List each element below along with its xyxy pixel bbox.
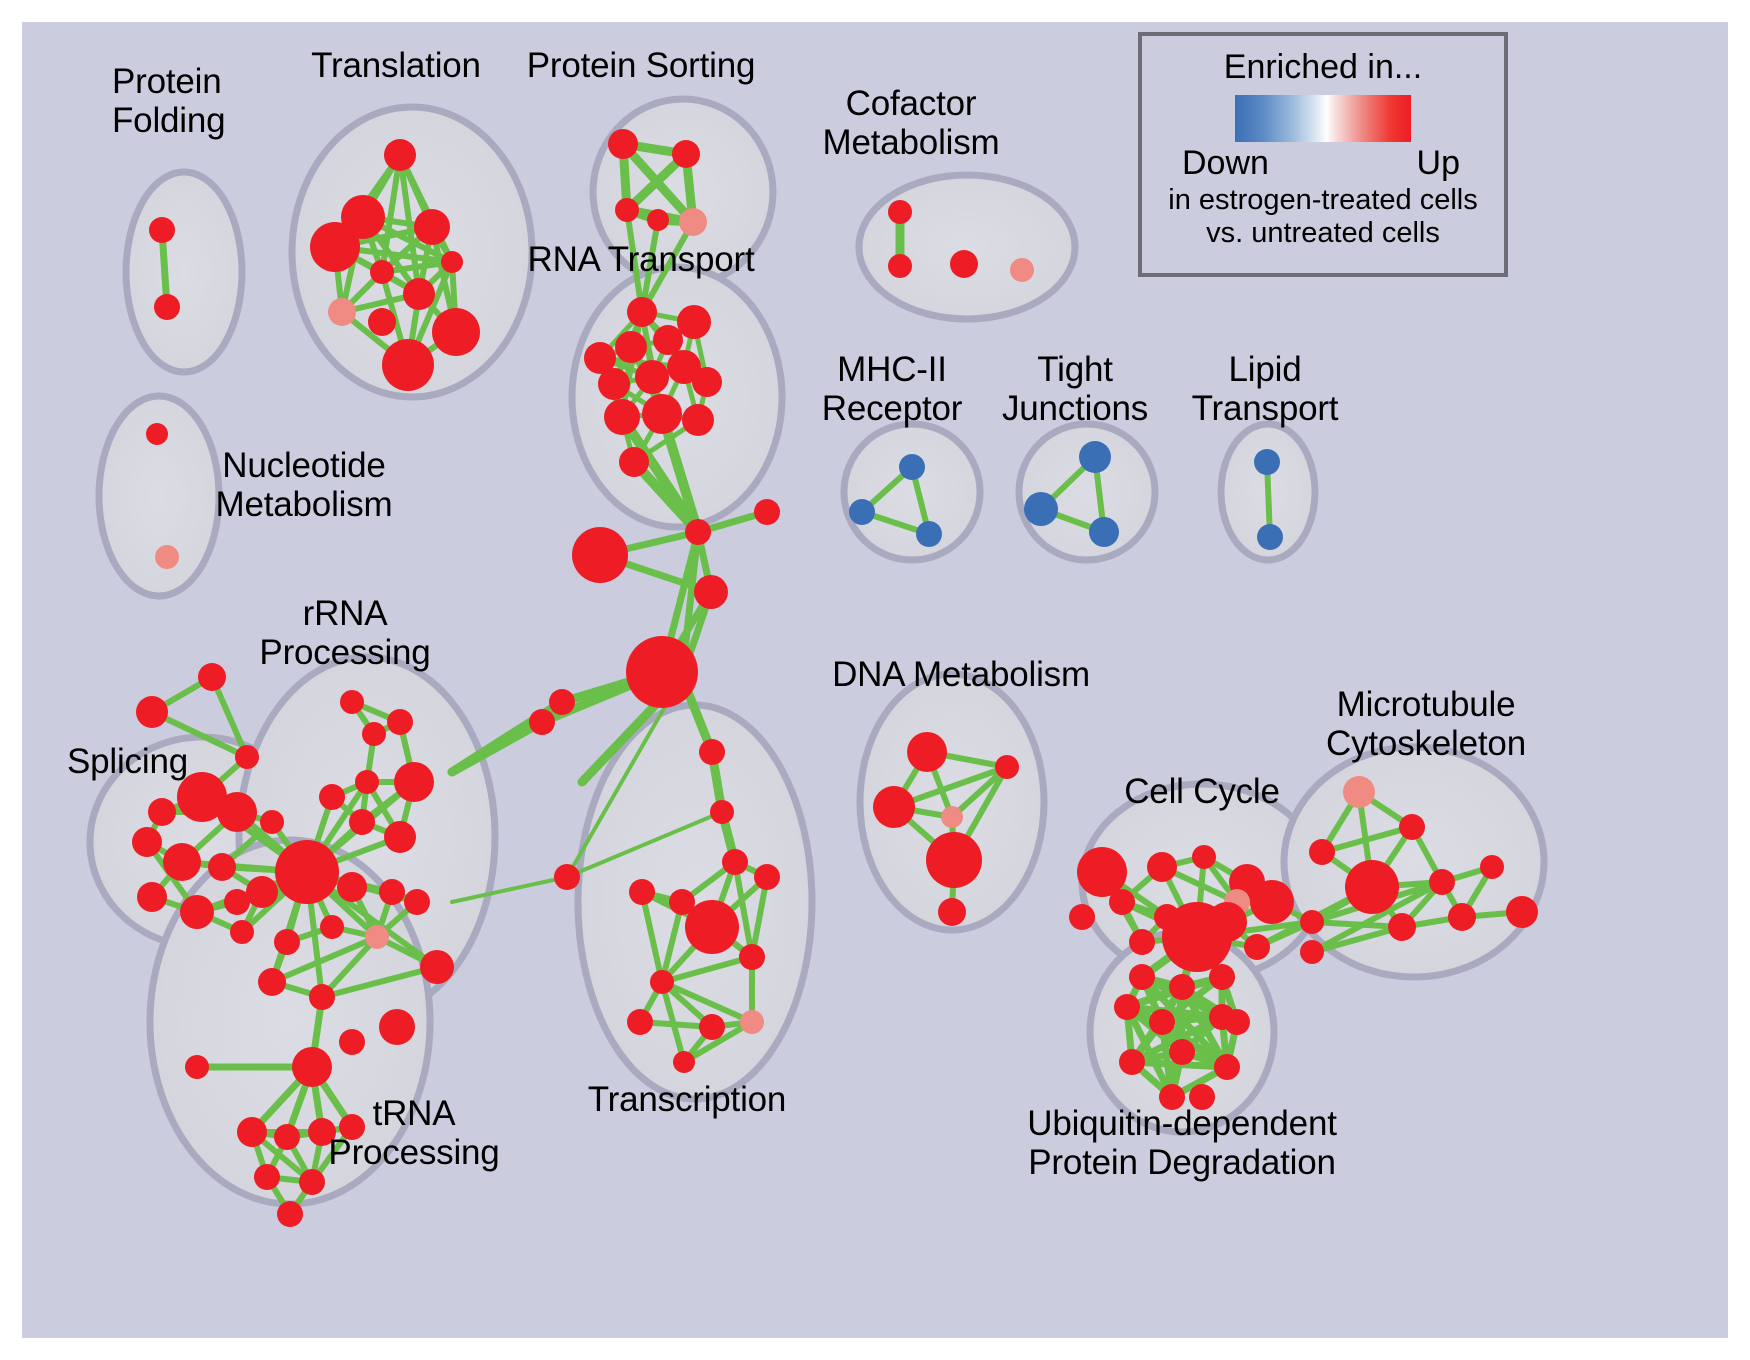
node [337,872,367,902]
legend-down-label: Down [1182,144,1269,183]
node [554,864,580,890]
node [277,1201,303,1227]
hull-protein-folding [126,172,242,372]
node [650,970,674,994]
node [163,843,201,881]
node [685,900,739,954]
node [387,709,413,735]
node [355,770,379,794]
node [694,575,728,609]
node [938,898,966,926]
node [217,792,257,832]
node [608,129,638,159]
node [941,806,963,828]
node [653,325,683,355]
node [1224,1009,1250,1035]
hull-rna-transport [572,267,782,527]
node [754,864,780,890]
node [1192,845,1216,869]
node [146,423,168,445]
node [1169,974,1195,1000]
node [368,308,396,336]
node [754,499,780,525]
cluster-label-trna-processing: tRNA Processing [328,1094,499,1172]
node [1429,869,1455,895]
node [148,798,176,826]
node [208,853,236,881]
node [1010,258,1034,282]
node [132,827,162,857]
node [699,1014,725,1040]
cluster-label-rna-transport: RNA Transport [528,240,755,279]
legend-color-gradient-bar [1235,95,1411,142]
node [246,876,278,908]
node [339,1029,365,1055]
node [137,882,167,912]
node [1129,964,1155,990]
node [615,331,647,363]
node [1069,904,1095,930]
node [237,1117,267,1147]
cluster-label-cofactor-metabolism: Cofactor Metabolism [823,84,1000,162]
node [1257,524,1283,550]
cluster-label-protein-folding: Protein Folding [112,62,225,140]
node [739,944,765,970]
node [224,889,250,915]
node [619,447,649,477]
figure-root: Protein Folding Translation Protein Sort… [0,0,1750,1360]
node [673,1051,695,1073]
node [1119,1049,1145,1075]
node [320,915,344,939]
node [685,519,711,545]
node [365,925,389,949]
cluster-label-mhc-ii-receptor: MHC-II Receptor [822,350,962,428]
node [888,200,912,224]
node [149,217,175,243]
node [677,305,711,339]
node [403,278,435,310]
node [349,809,375,835]
legend-up-label: Up [1417,144,1460,183]
node [384,139,416,171]
node [319,784,345,810]
node [647,209,669,231]
node [1024,492,1058,526]
node [604,399,640,435]
node [1214,1054,1240,1080]
node [1147,852,1177,882]
node [635,360,669,394]
node [384,821,416,853]
cluster-label-rrna-processing: rRNA Processing [259,594,430,672]
legend-box: Enriched in... Down Up in estrogen-treat… [1138,32,1508,277]
node [1300,940,1324,964]
node [899,454,925,480]
node [672,140,700,168]
node [340,690,364,714]
cluster-label-microtubule-cytoskeleton: Microtubule Cytoskeleton [1326,685,1526,763]
node [441,251,463,273]
legend-title: Enriched in... [1142,48,1504,87]
node [154,294,180,320]
node [1506,896,1538,928]
node [198,663,226,691]
hull-cofactor [859,175,1075,319]
node [136,696,168,728]
node [258,968,286,996]
node [394,762,434,802]
node [1480,855,1504,879]
node [274,1124,300,1150]
node [950,250,978,278]
node [362,722,386,746]
node [642,394,682,434]
cluster-label-protein-sorting: Protein Sorting [527,46,756,85]
node [1089,517,1119,547]
node [1109,889,1135,915]
node [679,208,707,236]
cluster-label-lipid-transport: Lipid Transport [1192,350,1339,428]
node [1254,449,1280,475]
legend-subtitle-line2: vs. untreated cells [1142,217,1504,250]
node [328,298,356,326]
node [1345,860,1399,914]
node [627,297,657,327]
node [1388,913,1416,941]
node [230,920,254,944]
node [1300,910,1324,934]
node [185,1055,209,1079]
node [629,879,655,905]
node [379,1009,415,1045]
network-canvas: Protein Folding Translation Protein Sort… [22,22,1728,1338]
node [414,209,450,245]
node [682,404,714,436]
node [572,527,628,583]
node [1149,1009,1175,1035]
node [995,755,1019,779]
node [1169,1039,1195,1065]
node [292,1047,332,1087]
node [275,840,339,904]
cluster-label-ubiquitin-protein-degradation: Ubiquitin-dependent Protein Degradation [1027,1104,1337,1182]
node [740,1010,764,1034]
cluster-label-tight-junctions: Tight Junctions [1002,350,1148,428]
node [710,800,734,824]
cluster-label-dna-metabolism: DNA Metabolism [832,655,1090,694]
node [926,832,982,888]
node [1448,903,1476,931]
node [382,339,434,391]
node [1209,964,1235,990]
node [1244,934,1270,960]
node [888,254,912,278]
node [404,889,430,915]
node [420,950,454,984]
node [180,895,214,929]
cluster-label-translation: Translation [311,46,481,85]
node [916,521,942,547]
node [699,739,725,765]
node [1399,814,1425,840]
node [529,709,555,735]
node [626,636,698,708]
node [274,929,300,955]
node [260,810,284,834]
node [1079,441,1111,473]
node [1114,994,1140,1020]
node [849,499,875,525]
node [379,879,405,905]
node [1162,902,1232,972]
node [873,786,915,828]
cluster-label-nucleotide-metabolism: Nucleotide Metabolism [216,446,393,524]
cluster-label-splicing: Splicing [67,742,188,781]
node [1250,880,1294,924]
node [299,1169,325,1195]
node [254,1164,280,1190]
cluster-label-transcription: Transcription [588,1080,786,1119]
node [1129,929,1155,955]
node [692,367,722,397]
node [722,849,748,875]
node [627,1009,653,1035]
node [598,368,630,400]
legend-endpoints: Down Up [1182,144,1464,184]
cluster-label-cell-cycle: Cell Cycle [1124,772,1280,811]
node [432,308,480,356]
node [1309,839,1335,865]
node [549,689,575,715]
node [235,745,259,769]
node [310,222,360,272]
hull-mhc-ii [844,424,980,560]
node [615,198,639,222]
node [309,984,335,1010]
node [155,545,179,569]
node [370,260,394,284]
node [1343,776,1375,808]
legend-subtitle-line1: in estrogen-treated cells [1142,184,1504,217]
node [907,732,947,772]
